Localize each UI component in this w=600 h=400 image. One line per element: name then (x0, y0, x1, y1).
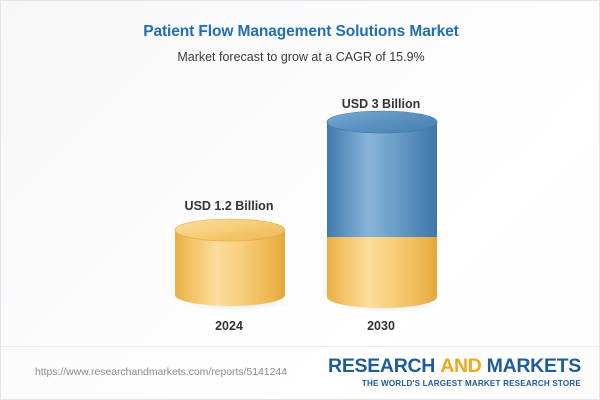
bar-cylinder-2024 (173, 223, 291, 311)
bar-body-2024 (175, 230, 285, 306)
infographic-canvas: Patient Flow Management Solutions Market… (0, 0, 600, 400)
chart-plot-area: USD 1.2 Billion (1, 1, 600, 346)
bar-top-2024 (175, 219, 285, 241)
footer-divider (1, 346, 600, 347)
value-label-2030: USD 3 Billion (291, 97, 471, 111)
logo-tagline: THE WORLD'S LARGEST MARKET RESEARCH STOR… (328, 380, 581, 388)
bar-top-2030 (327, 111, 437, 133)
report-url[interactable]: https://www.researchandmarkets.com/repor… (35, 366, 287, 378)
bar-segment-growth-2030 (327, 122, 437, 237)
research-and-markets-logo[interactable]: RESEARCH AND MARKETS THE WORLD'S LARGEST… (328, 357, 581, 388)
bar-segment-base-2030 (327, 237, 437, 308)
bar-cylinder-2030 (325, 115, 443, 313)
category-label-2030: 2030 (291, 319, 471, 333)
logo-word-research: RESEARCH (328, 355, 435, 377)
logo-word-and: AND (440, 355, 481, 377)
logo-word-markets: MARKETS (487, 355, 581, 377)
value-label-2024: USD 1.2 Billion (139, 199, 319, 213)
logo-wordmark: RESEARCH AND MARKETS (328, 357, 581, 377)
